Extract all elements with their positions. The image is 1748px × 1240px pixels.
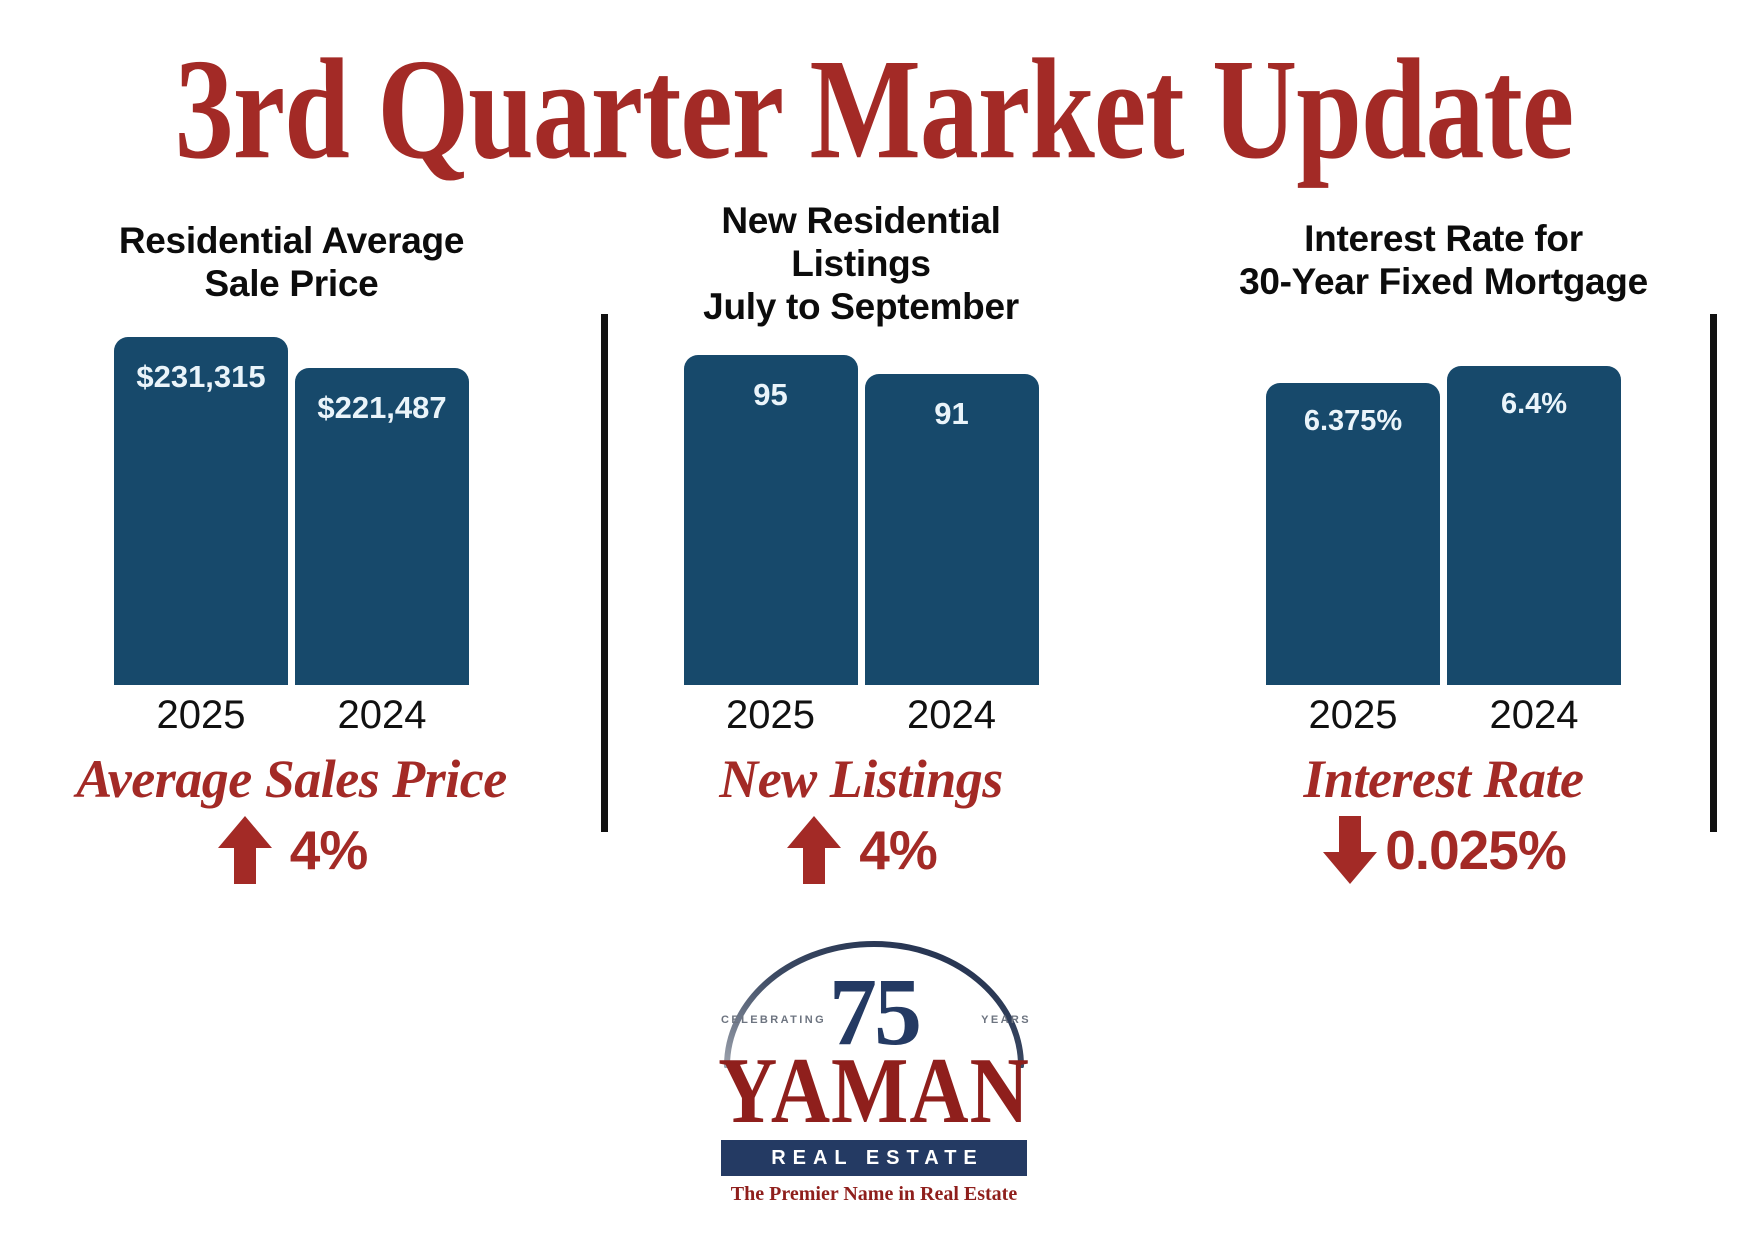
delta-value: 0.025% xyxy=(1385,818,1566,882)
arrow-up-icon xyxy=(216,814,274,886)
metric-column-average-sale-price: Residential Average Sale Price $231,315 … xyxy=(0,196,583,886)
arrow-up-icon xyxy=(785,814,843,886)
delta-value: 4% xyxy=(859,818,937,882)
year-axis: 2025 2024 xyxy=(583,693,1139,738)
bar-group-2024: $221,487 xyxy=(295,325,469,685)
column-title-line2: 30-Year Fixed Mortgage xyxy=(1239,261,1648,302)
bar-chart: 95 91 xyxy=(583,325,1139,685)
column-title-line2: Sale Price xyxy=(205,263,379,304)
logo-subtitle: REAL ESTATE xyxy=(764,1147,984,1170)
column-title: New Residential Listings July to Septemb… xyxy=(583,200,1139,329)
logo-years-text: YEARS xyxy=(981,1014,1031,1026)
year-label-2025: 2025 xyxy=(684,693,858,738)
delta-value: 4% xyxy=(290,818,368,882)
year-label-2024: 2024 xyxy=(1447,693,1621,738)
column-title: Interest Rate for 30-Year Fixed Mortgage xyxy=(1139,218,1748,304)
bar-value-label: $221,487 xyxy=(317,390,446,685)
bar-value-label: 6.375% xyxy=(1304,405,1402,685)
bar-value-label: 6.4% xyxy=(1501,388,1567,685)
bar-2025: 6.375% xyxy=(1266,383,1440,685)
delta-row: 4% xyxy=(583,814,1139,886)
column-title-line1: Interest Rate for xyxy=(1304,218,1583,259)
bar-2025: $231,315 xyxy=(114,337,288,685)
bar-value-label: 91 xyxy=(934,396,968,685)
metric-name: New Listings xyxy=(583,748,1139,810)
bar-2024: 6.4% xyxy=(1447,366,1621,685)
column-title-line2: Listings xyxy=(791,243,930,284)
bar-group-2024: 6.4% xyxy=(1447,325,1621,685)
bar-value-label: $231,315 xyxy=(136,359,265,685)
bar-group-2025: 95 xyxy=(684,325,858,685)
arrow-down-icon xyxy=(1321,814,1379,886)
bar-2024: 91 xyxy=(865,374,1039,685)
metric-column-new-listings: New Residential Listings July to Septemb… xyxy=(583,196,1139,886)
year-label-2025: 2025 xyxy=(1266,693,1440,738)
year-label-2024: 2024 xyxy=(295,693,469,738)
bar-2025: 95 xyxy=(684,355,858,685)
bar-chart: 6.375% 6.4% xyxy=(1139,325,1748,685)
year-axis: 2025 2024 xyxy=(1139,693,1748,738)
metric-column-interest-rate: Interest Rate for 30-Year Fixed Mortgage… xyxy=(1139,196,1748,886)
bar-group-2025: 6.375% xyxy=(1266,325,1440,685)
year-label-2024: 2024 xyxy=(865,693,1039,738)
infographic-page: 3rd Quarter Market Update Residential Av… xyxy=(0,0,1748,1240)
metric-name: Average Sales Price xyxy=(0,748,583,810)
logo-company-name: YAMAN xyxy=(709,1044,1039,1138)
delta-row: 4% xyxy=(0,814,583,886)
bar-value-label: 95 xyxy=(753,377,787,685)
company-logo: CELEBRATING 75 YEARS YAMAN REAL ESTATE T… xyxy=(709,938,1039,1238)
column-title-line3: July to September xyxy=(703,286,1019,327)
column-title: Residential Average Sale Price xyxy=(0,220,583,306)
year-label-2025: 2025 xyxy=(114,693,288,738)
column-title-line1: Residential Average xyxy=(119,220,464,261)
bar-chart: $231,315 $221,487 xyxy=(0,325,583,685)
bar-group-2024: 91 xyxy=(865,325,1039,685)
bar-group-2025: $231,315 xyxy=(114,325,288,685)
column-title-line1: New Residential xyxy=(721,200,1000,241)
delta-row: 0.025% xyxy=(1139,814,1748,886)
page-title: 3rd Quarter Market Update xyxy=(0,34,1748,185)
year-axis: 2025 2024 xyxy=(0,693,583,738)
bar-2024: $221,487 xyxy=(295,368,469,685)
metrics-columns: Residential Average Sale Price $231,315 … xyxy=(0,196,1748,886)
logo-subtitle-bar: REAL ESTATE xyxy=(721,1140,1027,1176)
logo-tagline: The Premier Name in Real Estate xyxy=(709,1183,1039,1206)
metric-name: Interest Rate xyxy=(1139,748,1748,810)
